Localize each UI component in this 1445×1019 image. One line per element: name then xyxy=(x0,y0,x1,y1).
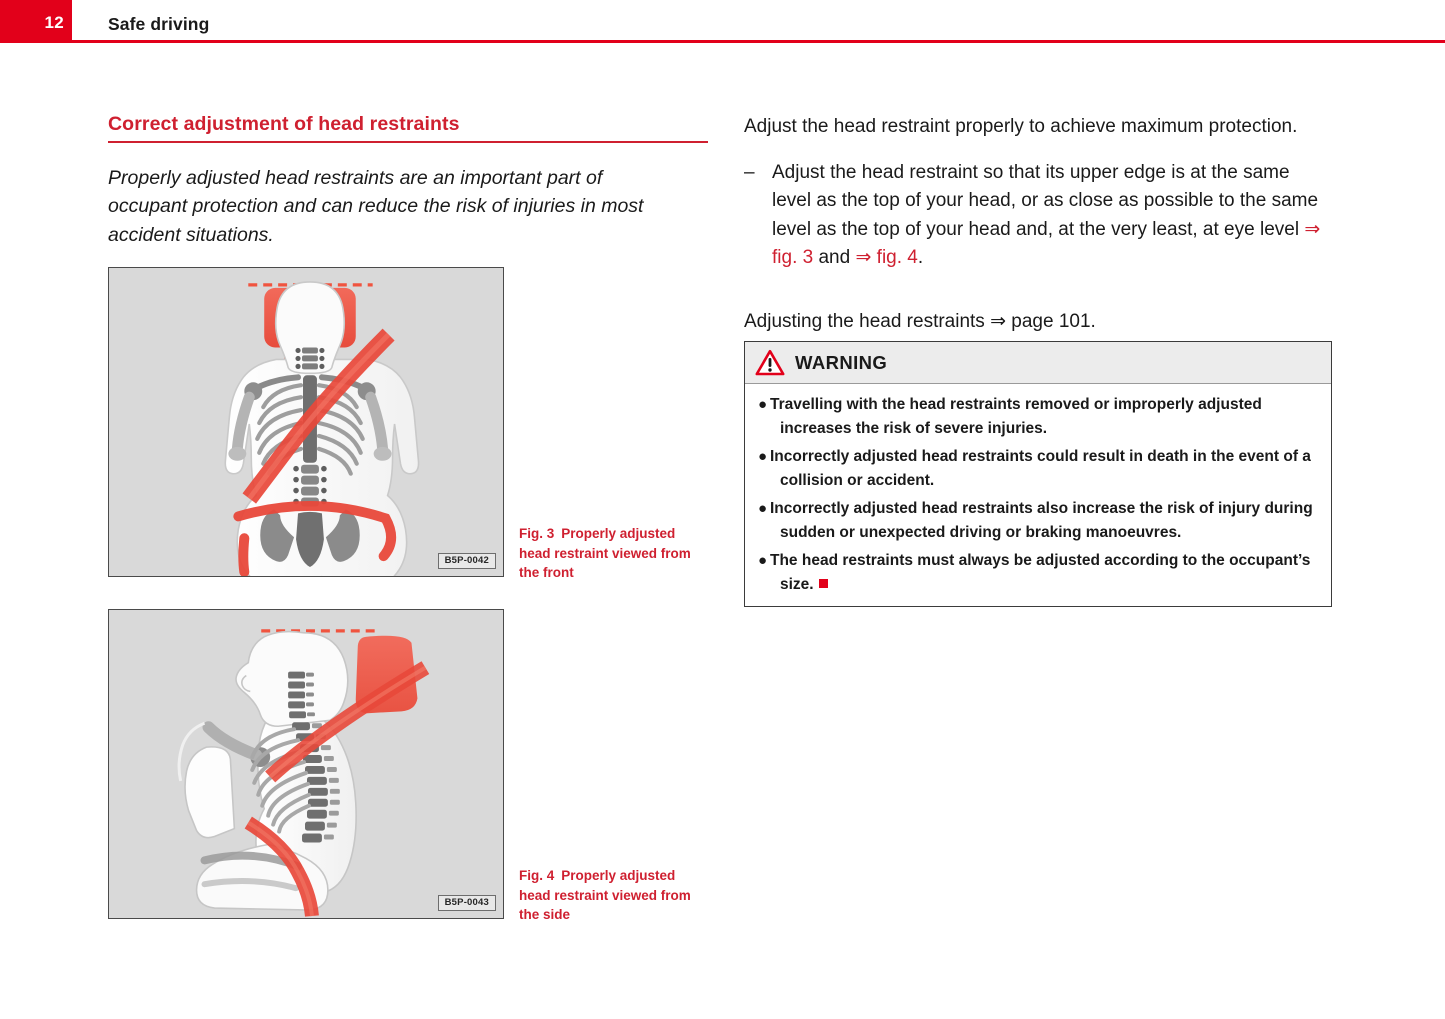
bullet-dot-icon: ● xyxy=(758,445,767,469)
right-intro-paragraph: Adjust the head restraint properly to ac… xyxy=(744,113,1332,142)
figure-side-view: B5P-0043 xyxy=(108,609,504,919)
warning-bullet-text: Travelling with the head restraints remo… xyxy=(770,396,1262,437)
warning-triangle-icon xyxy=(755,349,785,376)
figure-front-view-image: B5P-0042 xyxy=(108,267,504,577)
figure-front-view-caption: Fig. 3Properly adjusted head restraint v… xyxy=(519,524,709,583)
figure-side-view-caption: Fig. 4Properly adjusted head restraint v… xyxy=(519,866,709,925)
instruction-text: Adjust the head restraint so that its up… xyxy=(772,162,1318,240)
page-reference-paragraph: Adjusting the head restraints ⇒ page 101… xyxy=(744,308,1332,337)
dash-marker: – xyxy=(744,159,755,188)
image-id-badge: B5P-0042 xyxy=(438,553,496,570)
bullet-dot-icon: ● xyxy=(758,393,767,417)
bullet-dot-icon: ● xyxy=(758,549,767,573)
section-end-marker xyxy=(819,579,828,588)
instruction-conjunction: and xyxy=(813,247,855,268)
warning-title: WARNING xyxy=(795,352,887,374)
warning-bullet-item: ●Incorrectly adjusted head restraints al… xyxy=(755,497,1319,544)
bullet-dot-icon: ● xyxy=(758,497,767,521)
figure-front-view: B5P-0042 xyxy=(108,267,504,577)
page-number: 12 xyxy=(44,13,64,33)
image-id-badge: B5P-0043 xyxy=(438,895,496,912)
instruction-list-item: –Adjust the head restraint so that its u… xyxy=(744,159,1332,273)
warning-bullet-text: Incorrectly adjusted head restraints cou… xyxy=(770,448,1311,489)
figure-side-view-image: B5P-0043 xyxy=(108,609,504,919)
intro-paragraph: Properly adjusted head restraints are an… xyxy=(108,164,683,250)
warning-bullet-item: ●The head restraints must always be adju… xyxy=(755,549,1319,596)
left-column: Correct adjustment of head restraints Pr… xyxy=(108,113,708,249)
section-heading-rule xyxy=(108,141,708,143)
instruction-period: . xyxy=(918,247,923,268)
figure-caption-label: Fig. 4 xyxy=(519,868,554,883)
warning-body: ●Travelling with the head restraints rem… xyxy=(745,384,1331,606)
warning-header: WARNING xyxy=(745,342,1331,384)
page-number-block: 12 xyxy=(0,0,72,40)
front-view-illustration xyxy=(109,268,503,576)
right-column: Adjust the head restraint properly to ac… xyxy=(744,113,1332,370)
warning-bullet-item: ●Incorrectly adjusted head restraints co… xyxy=(755,445,1319,492)
section-heading: Correct adjustment of head restraints xyxy=(108,113,708,141)
side-view-illustration xyxy=(109,610,503,918)
warning-bullet-item: ●Travelling with the head restraints rem… xyxy=(755,393,1319,440)
warning-bullet-text: The head restraints must always be adjus… xyxy=(770,552,1310,593)
page-header: 12 Safe driving xyxy=(0,0,1445,44)
chapter-title: Safe driving xyxy=(108,14,209,35)
header-divider xyxy=(0,40,1445,43)
warning-box: WARNING ●Travelling with the head restra… xyxy=(744,341,1332,607)
warning-bullet-text: Incorrectly adjusted head restraints als… xyxy=(770,500,1313,541)
figure-caption-label: Fig. 3 xyxy=(519,526,554,541)
cross-reference-fig-4[interactable]: ⇒ fig. 4 xyxy=(855,247,917,268)
